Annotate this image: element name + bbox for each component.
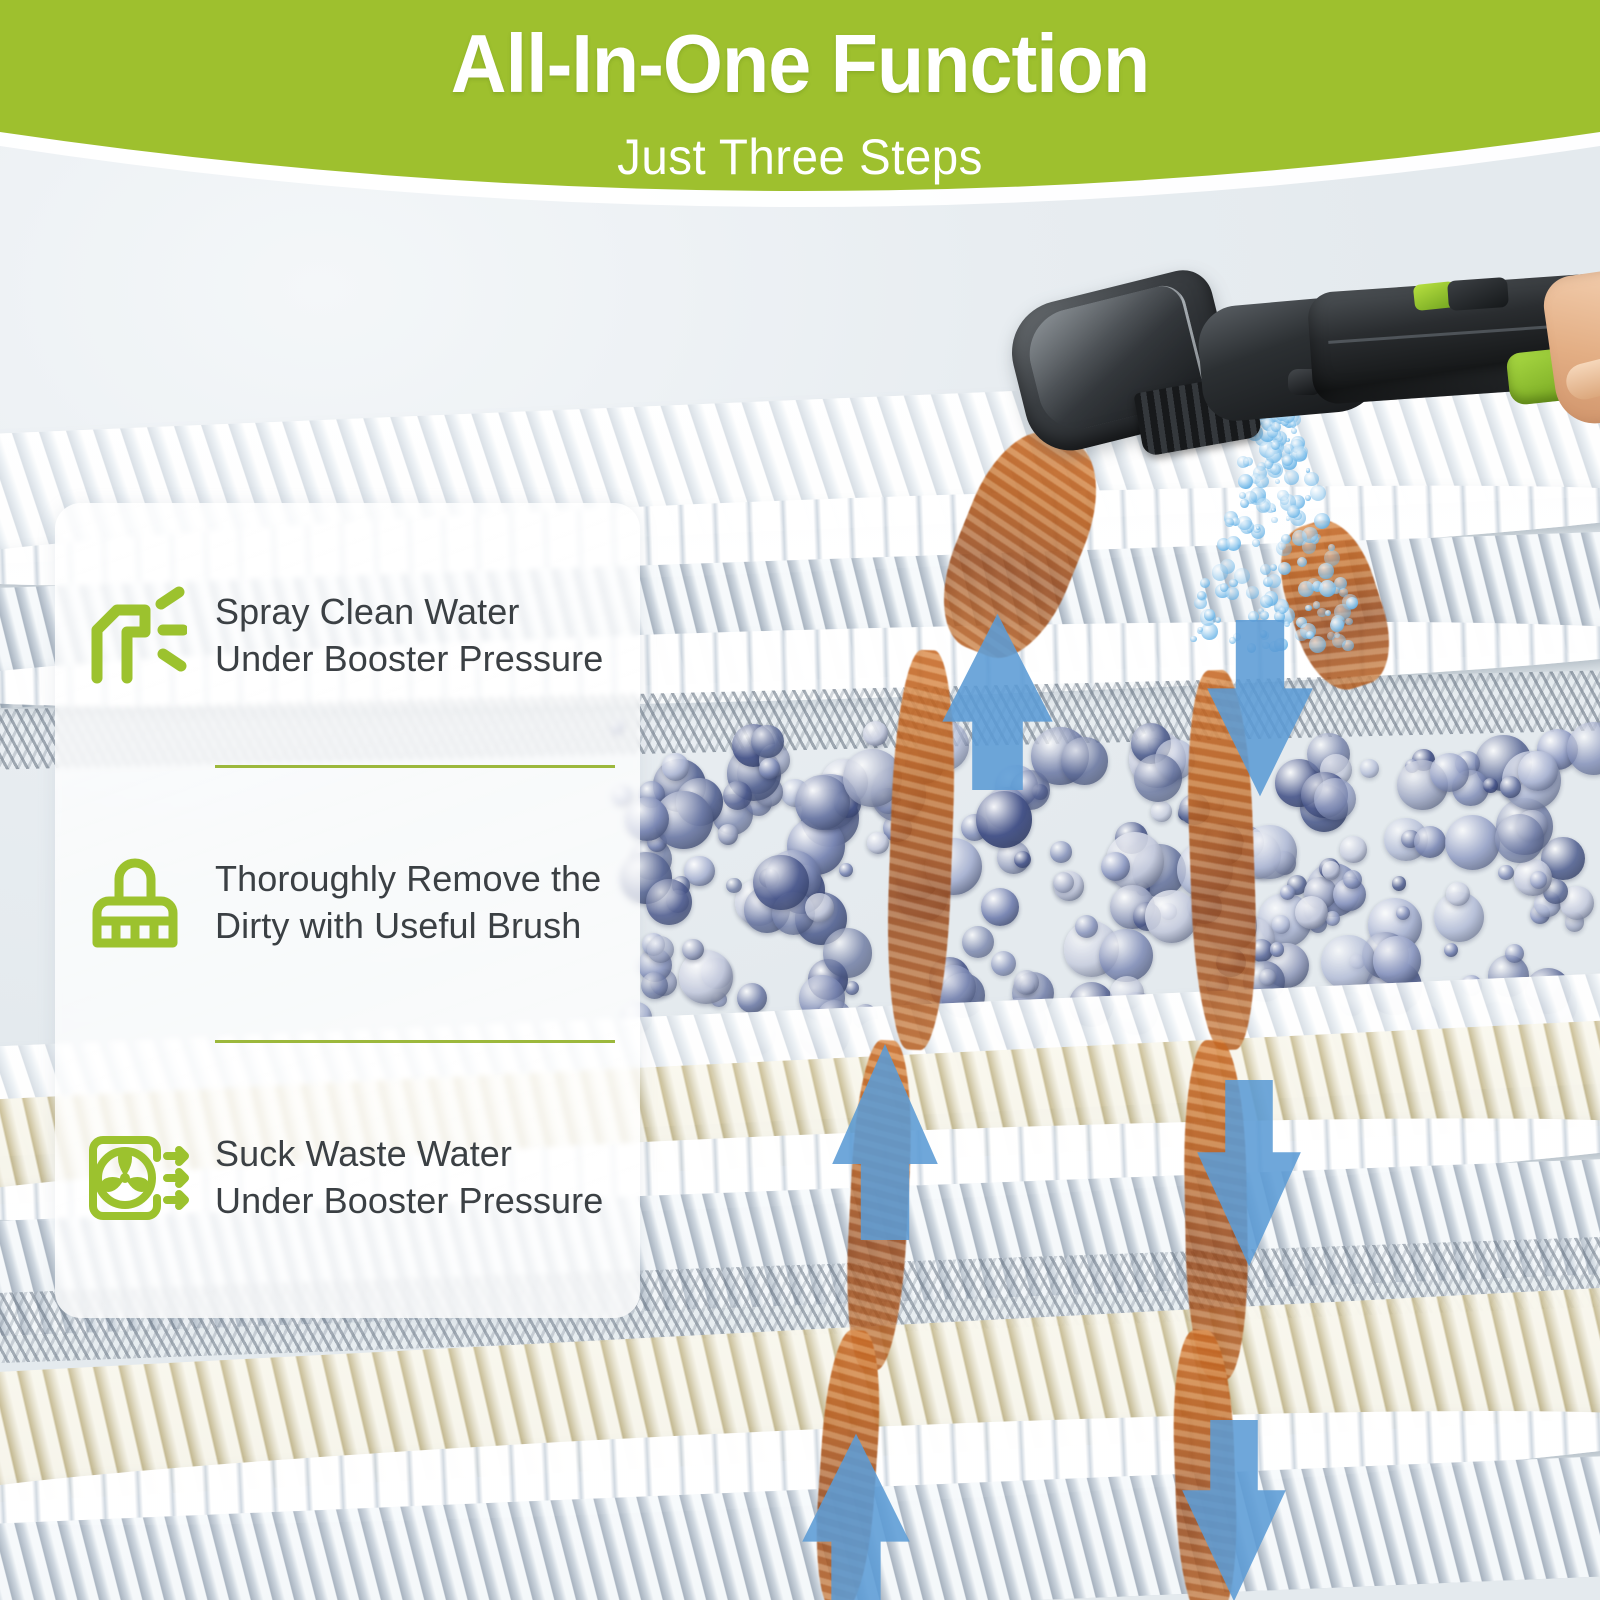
water-droplet xyxy=(1328,544,1335,551)
feature-step-2: Thoroughly Remove the Dirty with Useful … xyxy=(55,808,640,998)
water-droplet xyxy=(1267,574,1281,588)
feature-divider-2 xyxy=(215,1040,615,1043)
feature-step-2-text: Thoroughly Remove the Dirty with Useful … xyxy=(215,856,640,950)
water-droplet xyxy=(1226,536,1241,551)
water-droplet xyxy=(1220,583,1229,592)
feature-divider-1 xyxy=(215,765,615,768)
dirt-particle xyxy=(1014,970,1039,995)
dirt-particle xyxy=(1445,815,1500,870)
water-droplet xyxy=(1305,605,1311,611)
water-droplet xyxy=(1325,610,1331,616)
feature-step-1-line1: Spray Clean Water xyxy=(215,589,622,636)
water-droplet xyxy=(1278,562,1291,575)
water-droplet xyxy=(1346,597,1358,609)
feature-step-1-text: Spray Clean Water Under Booster Pressure xyxy=(215,589,640,683)
water-droplet xyxy=(1198,627,1203,632)
dirt-particle xyxy=(1050,841,1072,863)
dirt-particle xyxy=(662,753,690,781)
dirt-particle xyxy=(1061,737,1108,784)
water-droplet xyxy=(1204,609,1215,620)
spray-arrow-down xyxy=(1180,1420,1288,1600)
dirt-particle xyxy=(737,983,768,1014)
dirt-particle xyxy=(726,878,741,893)
dirt-particle xyxy=(751,725,784,758)
dirt-particle xyxy=(1444,943,1459,958)
water-droplet xyxy=(1327,632,1335,640)
suction-fan-icon xyxy=(55,1126,215,1230)
dirt-particle xyxy=(682,939,704,961)
water-droplet xyxy=(1307,578,1320,591)
spray-arrow-down xyxy=(1205,620,1315,800)
dirt-particle xyxy=(1314,778,1356,820)
dirt-particle xyxy=(1134,754,1182,802)
dirt-particle xyxy=(1075,915,1098,938)
dirt-particle xyxy=(1414,826,1447,859)
feature-step-3-line1: Suck Waste Water xyxy=(215,1131,622,1178)
water-droplet xyxy=(1271,517,1278,524)
dirt-particle xyxy=(1567,722,1600,775)
water-droplet xyxy=(1319,580,1336,597)
dirt-particle xyxy=(723,781,752,810)
dirt-particle xyxy=(962,926,994,958)
dirt-particle xyxy=(863,721,889,747)
scrub-brush-icon xyxy=(55,851,215,955)
feature-step-1: Spray Clean Water Under Booster Pressure xyxy=(55,541,640,731)
water-droplet xyxy=(1225,518,1234,527)
feature-step-3: Suck Waste Water Under Booster Pressure xyxy=(55,1083,640,1273)
dirt-particle xyxy=(718,824,738,844)
dirt-particle xyxy=(1446,882,1470,906)
feature-step-1-line2: Under Booster Pressure xyxy=(215,636,622,683)
water-droplet xyxy=(1276,541,1291,556)
water-droplet xyxy=(1318,563,1334,579)
water-droplet xyxy=(1260,595,1273,608)
dirt-particle xyxy=(1483,778,1498,793)
feature-step-3-text: Suck Waste Water Under Booster Pressure xyxy=(215,1131,640,1225)
dirt-particle xyxy=(1518,751,1558,791)
dirt-particle xyxy=(1495,814,1544,863)
dirt-particle xyxy=(1270,942,1285,957)
dirt-particle xyxy=(1373,936,1421,984)
dirt-particle xyxy=(646,879,692,925)
dirt-particle xyxy=(823,928,873,978)
water-droplet xyxy=(1270,564,1277,571)
suction-arrow-up xyxy=(800,1430,912,1600)
dirt-particle xyxy=(805,893,834,922)
suction-arrow-up xyxy=(940,610,1055,790)
spray-arrow-down xyxy=(1195,1080,1303,1270)
water-droplet xyxy=(1190,636,1196,642)
dirt-particle xyxy=(647,936,674,963)
dirt-particle xyxy=(1340,836,1366,862)
handheld-cleaner-tool xyxy=(1010,265,1600,495)
dirt-particle xyxy=(1014,851,1031,868)
dirt-particle xyxy=(1343,870,1362,889)
water-droplet xyxy=(1345,618,1353,626)
dirt-particle xyxy=(1360,759,1379,778)
water-droplet xyxy=(1246,586,1259,599)
dirt-particle xyxy=(753,855,809,911)
dirt-particle xyxy=(839,863,853,877)
water-droplet xyxy=(1279,607,1286,614)
feature-step-3-line2: Under Booster Pressure xyxy=(215,1178,622,1225)
dirt-particle xyxy=(759,758,780,779)
water-droplet xyxy=(1302,527,1317,542)
feature-step-2-line1: Thoroughly Remove the xyxy=(215,856,622,903)
water-droplet xyxy=(1240,499,1249,508)
dirt-particle xyxy=(1498,865,1513,880)
suction-arrow-up xyxy=(830,1040,940,1240)
feature-steps-card: Spray Clean Water Under Booster Pressure… xyxy=(55,503,640,1318)
dirt-particle xyxy=(991,951,1016,976)
water-droplet xyxy=(1330,618,1344,632)
dirt-particle xyxy=(1053,872,1074,893)
dirt-particle xyxy=(981,888,1019,926)
dirt-particle xyxy=(1500,776,1522,798)
dirt-particle xyxy=(1099,929,1153,983)
dirt-particle xyxy=(976,791,1032,847)
water-droplet xyxy=(1212,564,1228,580)
user-hand xyxy=(1540,267,1600,428)
dirt-particle xyxy=(867,832,888,853)
water-droplet xyxy=(1271,508,1276,513)
dirt-particle xyxy=(1151,801,1172,822)
tool-black-latch xyxy=(1447,277,1509,311)
dirt-particle xyxy=(1321,935,1376,990)
dirt-particle xyxy=(1530,871,1547,888)
water-droplet xyxy=(1260,611,1269,620)
dirt-particle xyxy=(795,775,850,830)
feature-step-2-line2: Dirty with Useful Brush xyxy=(215,903,622,950)
water-droplet xyxy=(1339,588,1348,597)
water-droplet xyxy=(1297,557,1307,567)
water-droplet xyxy=(1237,516,1252,531)
dirt-particle xyxy=(1145,890,1198,943)
dirt-particle xyxy=(1392,876,1406,890)
water-droplet xyxy=(1252,539,1260,547)
water-droplet xyxy=(1314,513,1330,529)
water-droplet xyxy=(1200,578,1210,588)
spray-nozzle-icon xyxy=(55,586,215,686)
water-droplet xyxy=(1234,568,1250,584)
